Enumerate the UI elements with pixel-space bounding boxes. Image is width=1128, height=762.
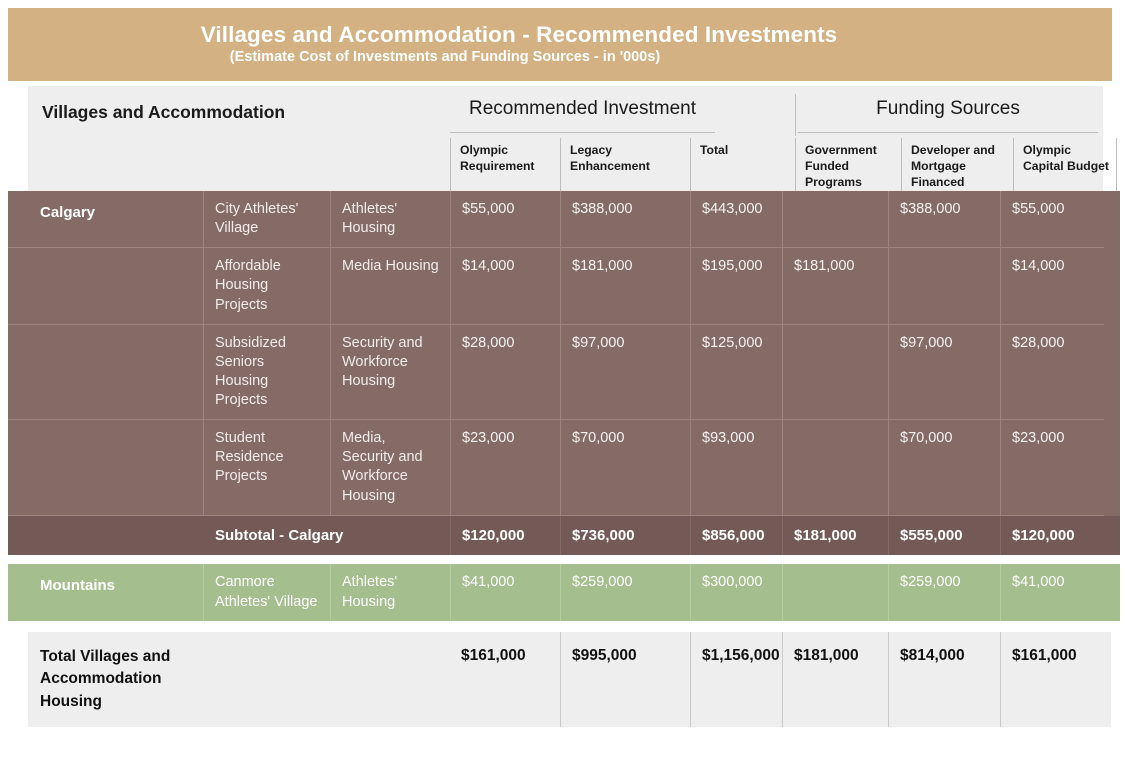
cell-olympic-requirement: $41,000 <box>450 564 560 620</box>
cell-government-funded-programs <box>782 420 888 516</box>
cell-legacy-enhancement: $97,000 <box>560 325 690 421</box>
cell-olympic-capital-budget: $14,000 <box>1000 248 1104 324</box>
subtotal-total: $856,000 <box>690 516 782 556</box>
cell-olympic-requirement: $28,000 <box>450 325 560 421</box>
region-spacer <box>8 248 203 324</box>
cell-developer-and-mortgage-financed: $70,000 <box>888 420 1000 516</box>
cell-olympic-capital-budget: $23,000 <box>1000 420 1104 516</box>
cell-developer-and-mortgage-financed <box>888 248 1000 324</box>
cell-project: Canmore Athletes' Village <box>203 564 330 620</box>
cell-government-funded-programs: $181,000 <box>782 248 888 324</box>
cell-total: $125,000 <box>690 325 782 421</box>
subtotal-olympic-requirement: $120,000 <box>450 516 560 556</box>
cell-housing-type: Athletes' Housing <box>330 191 450 248</box>
grand-total-spacer-type <box>330 632 450 727</box>
grand-total-olympic-capital-budget: $161,000 <box>1000 632 1104 727</box>
table-header: Villages and Accommodation Recommended I… <box>28 86 1103 191</box>
cell-olympic-requirement: $14,000 <box>450 248 560 324</box>
group-rule-funding-sources <box>798 132 1098 133</box>
cell-project: Affordable Housing Projects <box>203 248 330 324</box>
cell-total: $300,000 <box>690 564 782 620</box>
table-row: Affordable Housing Projects Media Housin… <box>8 248 1120 324</box>
table-row: Calgary City Athletes' Village Athletes'… <box>8 191 1120 248</box>
grand-total-total: $1,156,000 <box>690 632 782 727</box>
cell-developer-and-mortgage-financed: $388,000 <box>888 191 1000 248</box>
cell-total: $195,000 <box>690 248 782 324</box>
region-spacer <box>8 420 203 516</box>
grand-total-legacy-enhancement: $995,000 <box>560 632 690 727</box>
title-banner: Villages and Accommodation - Recommended… <box>8 8 1112 81</box>
column-header-government-funded-programs: Government Funded Programs <box>795 138 901 191</box>
cell-legacy-enhancement: $388,000 <box>560 191 690 248</box>
subtotal-spacer <box>8 516 203 556</box>
banner-title: Villages and Accommodation - Recommended… <box>201 22 838 47</box>
table-row: Subsidized Seniors Housing Projects Secu… <box>8 325 1120 421</box>
cell-legacy-enhancement: $259,000 <box>560 564 690 620</box>
banner-text-block: Villages and Accommodation - Recommended… <box>8 8 1090 81</box>
grand-total-spacer-project <box>203 632 330 727</box>
cell-project: City Athletes' Village <box>203 191 330 248</box>
table-row: Student Residence Projects Media, Securi… <box>8 420 1120 516</box>
group-divider <box>795 94 796 136</box>
column-header-olympic-requirement: Olympic Requirement <box>450 138 560 191</box>
column-header-developer-and-mortgage-financed: Developer and Mortgage Financed <box>901 138 1013 191</box>
subtotal-legacy-enhancement: $736,000 <box>560 516 690 556</box>
table-row-mountains: Mountains Canmore Athletes' Village Athl… <box>8 564 1120 620</box>
column-group-funding-sources: Funding Sources <box>798 98 1098 120</box>
column-header-legacy-enhancement: Legacy Enhancement <box>560 138 690 191</box>
table-header-title: Villages and Accommodation <box>42 102 442 124</box>
cell-developer-and-mortgage-financed: $97,000 <box>888 325 1000 421</box>
subtotal-row-calgary: Subtotal - Calgary $120,000 $736,000 $85… <box>8 516 1120 556</box>
cell-total: $93,000 <box>690 420 782 516</box>
row-gap-bottom <box>8 621 1120 632</box>
subtotal-developer-and-mortgage-financed: $555,000 <box>888 516 1000 556</box>
cell-project: Subsidized Seniors Housing Projects <box>203 325 330 421</box>
cell-olympic-capital-budget: $41,000 <box>1000 564 1104 620</box>
cell-housing-type: Athletes' Housing <box>330 564 450 620</box>
column-header-olympic-capital-budget: Olympic Capital Budget <box>1013 138 1117 191</box>
banner-subtitle: (Estimate Cost of Investments and Fundin… <box>230 49 660 66</box>
grand-total-government-funded-programs: $181,000 <box>782 632 888 727</box>
cell-government-funded-programs <box>782 191 888 248</box>
cell-government-funded-programs <box>782 325 888 421</box>
region-label-mountains: Mountains <box>8 564 203 620</box>
cell-project: Student Residence Projects <box>203 420 330 516</box>
subtotal-label: Subtotal - Calgary <box>203 516 450 556</box>
cell-housing-type: Media, Security and Workforce Housing <box>330 420 450 516</box>
cell-legacy-enhancement: $70,000 <box>560 420 690 516</box>
cell-olympic-requirement: $23,000 <box>450 420 560 516</box>
region-spacer <box>8 325 203 421</box>
region-label-calgary: Calgary <box>8 191 203 248</box>
cell-housing-type: Security and Workforce Housing <box>330 325 450 421</box>
group-rule-recommended-investment <box>450 132 715 133</box>
grand-total-developer-and-mortgage-financed: $814,000 <box>888 632 1000 727</box>
banner-fold-corner <box>1090 8 1112 81</box>
cell-housing-type: Media Housing <box>330 248 450 324</box>
cell-olympic-capital-budget: $28,000 <box>1000 325 1104 421</box>
table-body: Calgary City Athletes' Village Athletes'… <box>8 191 1120 727</box>
cell-developer-and-mortgage-financed: $259,000 <box>888 564 1000 620</box>
subtotal-olympic-capital-budget: $120,000 <box>1000 516 1104 556</box>
cell-olympic-capital-budget: $55,000 <box>1000 191 1104 248</box>
subtotal-government-funded-programs: $181,000 <box>782 516 888 556</box>
row-gap <box>8 555 1120 564</box>
cell-total: $443,000 <box>690 191 782 248</box>
cell-government-funded-programs <box>782 564 888 620</box>
cell-olympic-requirement: $55,000 <box>450 191 560 248</box>
grand-total-row: Total Villages and Accommodation Housing… <box>28 632 1111 727</box>
grand-total-olympic-requirement: $161,000 <box>450 632 560 727</box>
grand-total-label: Total Villages and Accommodation Housing <box>28 632 203 727</box>
column-group-recommended-investment: Recommended Investment <box>450 98 715 120</box>
column-header-total: Total <box>690 138 795 191</box>
cell-legacy-enhancement: $181,000 <box>560 248 690 324</box>
